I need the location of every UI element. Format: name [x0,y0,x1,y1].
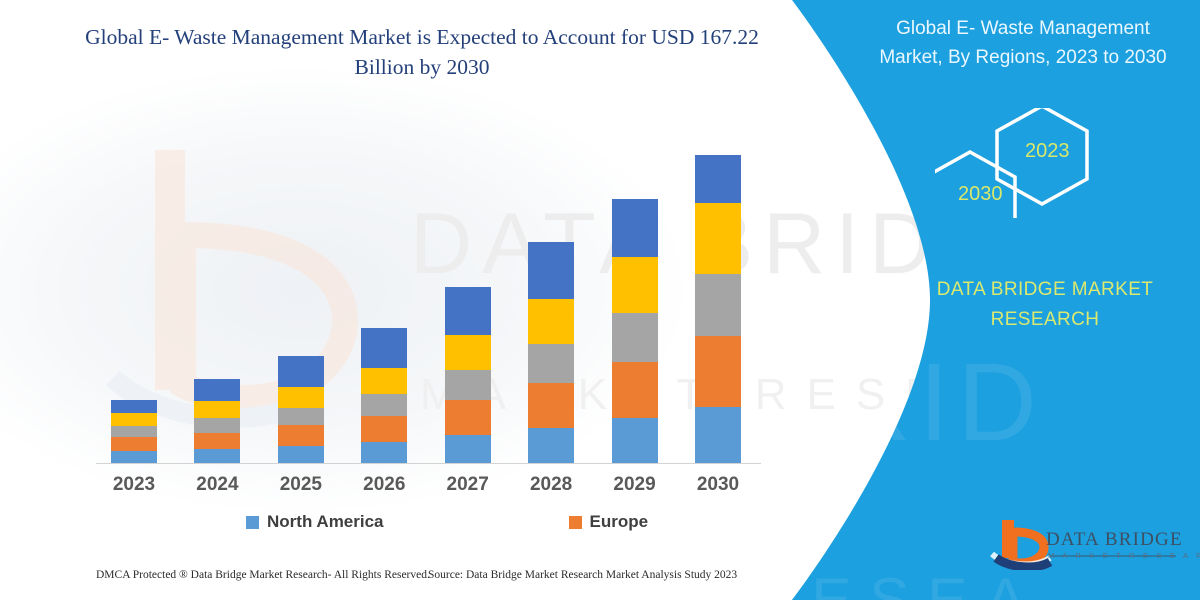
bar-segment-europe [111,437,157,451]
bar-column-2023 [96,120,172,464]
bar-column-2025 [263,120,339,464]
bar-segment-asia-pacific [445,370,491,400]
bar-segment-asia-pacific [194,418,240,433]
bar-segment-europe [361,416,407,442]
x-axis-tick-2026: 2026 [346,474,422,496]
bar-segment-asia-pacific [361,394,407,416]
bar-segment-middle-east-and-africa [111,400,157,413]
bar-segment-asia-pacific [111,426,157,437]
stacked-bar [278,356,324,464]
bar-segment-asia-pacific [278,408,324,425]
bar-segment-south-america [278,387,324,408]
stacked-bar [361,328,407,464]
hexagon-label-2023: 2023 [1025,140,1070,163]
legend-swatch-europe [569,516,582,529]
footer-source-text: Source: Data Bridge Market Research Mark… [428,569,737,581]
bar-column-2027 [430,120,506,464]
bar-segment-north-america [361,442,407,464]
bar-segment-north-america [612,418,658,464]
bar-segment-europe [612,362,658,418]
infographic-canvas: DATA BRIDGE MARKET RESEARCH Global E- Wa… [0,0,1200,600]
bar-segment-middle-east-and-africa [445,287,491,335]
stacked-bar [528,242,574,464]
stacked-bar [612,199,658,464]
footer: DMCA Protected ® Data Bridge Market Rese… [0,561,800,600]
bar-segment-south-america [445,335,491,370]
bar-segment-middle-east-and-africa [278,356,324,387]
page-title: Global E- Waste Management Market is Exp… [62,22,782,82]
x-axis-tick-2025: 2025 [263,474,339,496]
x-axis-tick-2029: 2029 [597,474,673,496]
x-axis-line [96,463,761,464]
bar-segment-middle-east-and-africa [361,328,407,368]
bar-column-2026 [346,120,422,464]
bar-column-2030 [680,120,756,464]
legend-item-europe[interactable]: Europe [569,512,649,532]
stacked-bar [194,379,240,464]
bar-segment-south-america [612,257,658,313]
stacked-bar [695,155,741,464]
stacked-bar [445,287,491,464]
bar-segment-asia-pacific [612,313,658,362]
bar-segment-north-america [278,446,324,464]
x-axis-tick-2030: 2030 [680,474,756,496]
bar-column-2028 [513,120,589,464]
bar-segment-europe [445,400,491,435]
x-axis-tick-2024: 2024 [179,474,255,496]
bar-segment-south-america [111,413,157,426]
panel-brand-heading: DATA BRIDGE MARKET RESEARCH [905,275,1185,335]
legend-item-north-america[interactable]: North America [246,512,384,532]
panel-title: Global E- Waste Management Market, By Re… [864,14,1182,72]
legend-label-europe: Europe [590,512,649,532]
bar-segment-europe [194,433,240,449]
bar-segment-middle-east-and-africa [528,242,574,299]
x-axis-labels: 20232024202520262027202820292030 [96,474,756,496]
bar-segment-south-america [194,401,240,418]
stacked-bar [111,400,157,464]
x-axis-tick-2028: 2028 [513,474,589,496]
svg-text:RESEA: RESEA [770,566,1043,600]
bar-segment-south-america [528,299,574,344]
bar-segment-middle-east-and-africa [194,379,240,401]
bar-segment-europe [528,383,574,428]
bar-segment-asia-pacific [528,344,574,383]
bar-segment-north-america [445,435,491,464]
bar-segment-middle-east-and-africa [612,199,658,257]
chart-legend: North America Europe [96,512,756,532]
legend-label-north-america: North America [267,512,384,532]
bar-column-2029 [597,120,673,464]
bar-group [96,120,756,464]
bar-segment-europe [695,336,741,407]
brand-name-text: DATA BRIDGE [1046,529,1183,551]
bar-segment-north-america [194,449,240,464]
bar-segment-south-america [695,203,741,274]
bar-segment-south-america [361,368,407,394]
bar-segment-north-america [528,428,574,464]
bar-segment-north-america [695,407,741,464]
hexagon-label-2030: 2030 [958,183,1003,206]
bar-chart-plot [96,120,756,464]
bar-segment-europe [278,425,324,446]
brand-subtitle-text: M A R K E T R E S E A R C H [1048,551,1200,560]
x-axis-tick-2023: 2023 [96,474,172,496]
footer-dmca-text: DMCA Protected ® Data Bridge Market Rese… [96,569,430,581]
legend-swatch-north-america [246,516,259,529]
bar-segment-middle-east-and-africa [695,155,741,203]
bar-segment-asia-pacific [695,274,741,336]
bar-column-2024 [179,120,255,464]
x-axis-tick-2027: 2027 [430,474,506,496]
svg-text:BRID: BRID [770,341,1045,464]
